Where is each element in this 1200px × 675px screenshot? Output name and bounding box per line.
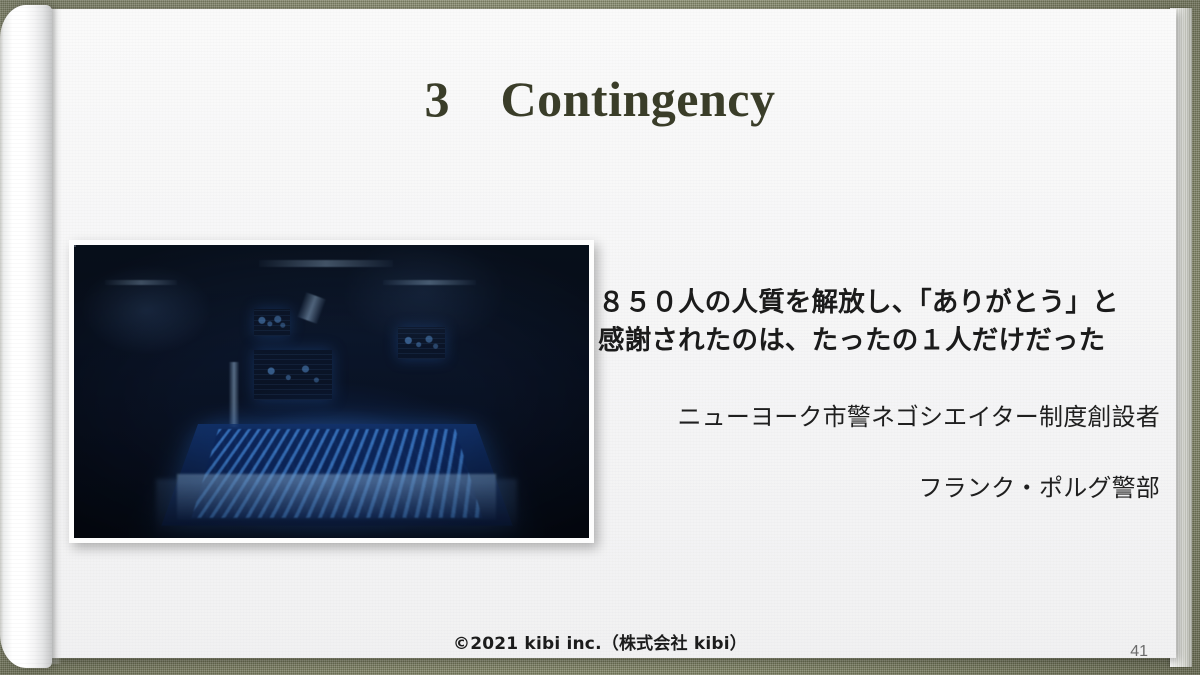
page-curl-seam-shadow: [52, 9, 62, 664]
footer-copyright: ©2021 kibi inc.（株式会社 kibi）: [24, 629, 1176, 654]
photo-canvas: [74, 245, 589, 538]
slide-page: 3 Contingency: [24, 9, 1176, 658]
crisis-negotiation-team-photo: [74, 245, 589, 538]
quote-text-column: ８５０人の人質を解放し、「ありがとう」と 感謝されたのは、たったの１人だけだった…: [598, 284, 1160, 504]
page-curl-grain: [0, 5, 52, 668]
attribution-name: フランク・ポルグ警部: [598, 472, 1160, 504]
quote-line-2: 感謝されたのは、たったの１人だけだった: [598, 322, 1160, 360]
page-curl-left-edge: [0, 5, 52, 668]
attribution-organization: ニューヨーク市警ネゴシエイター制度創設者: [598, 401, 1160, 433]
photo-frame: [69, 240, 594, 543]
slide-root: 3 Contingency: [0, 0, 1200, 675]
quote-line-1: ８５０人の人質を解放し、「ありがとう」と: [598, 284, 1160, 322]
photo-color-grade: [74, 245, 589, 538]
page-title: 3 Contingency: [24, 71, 1176, 127]
page-number: 41: [1130, 643, 1148, 661]
